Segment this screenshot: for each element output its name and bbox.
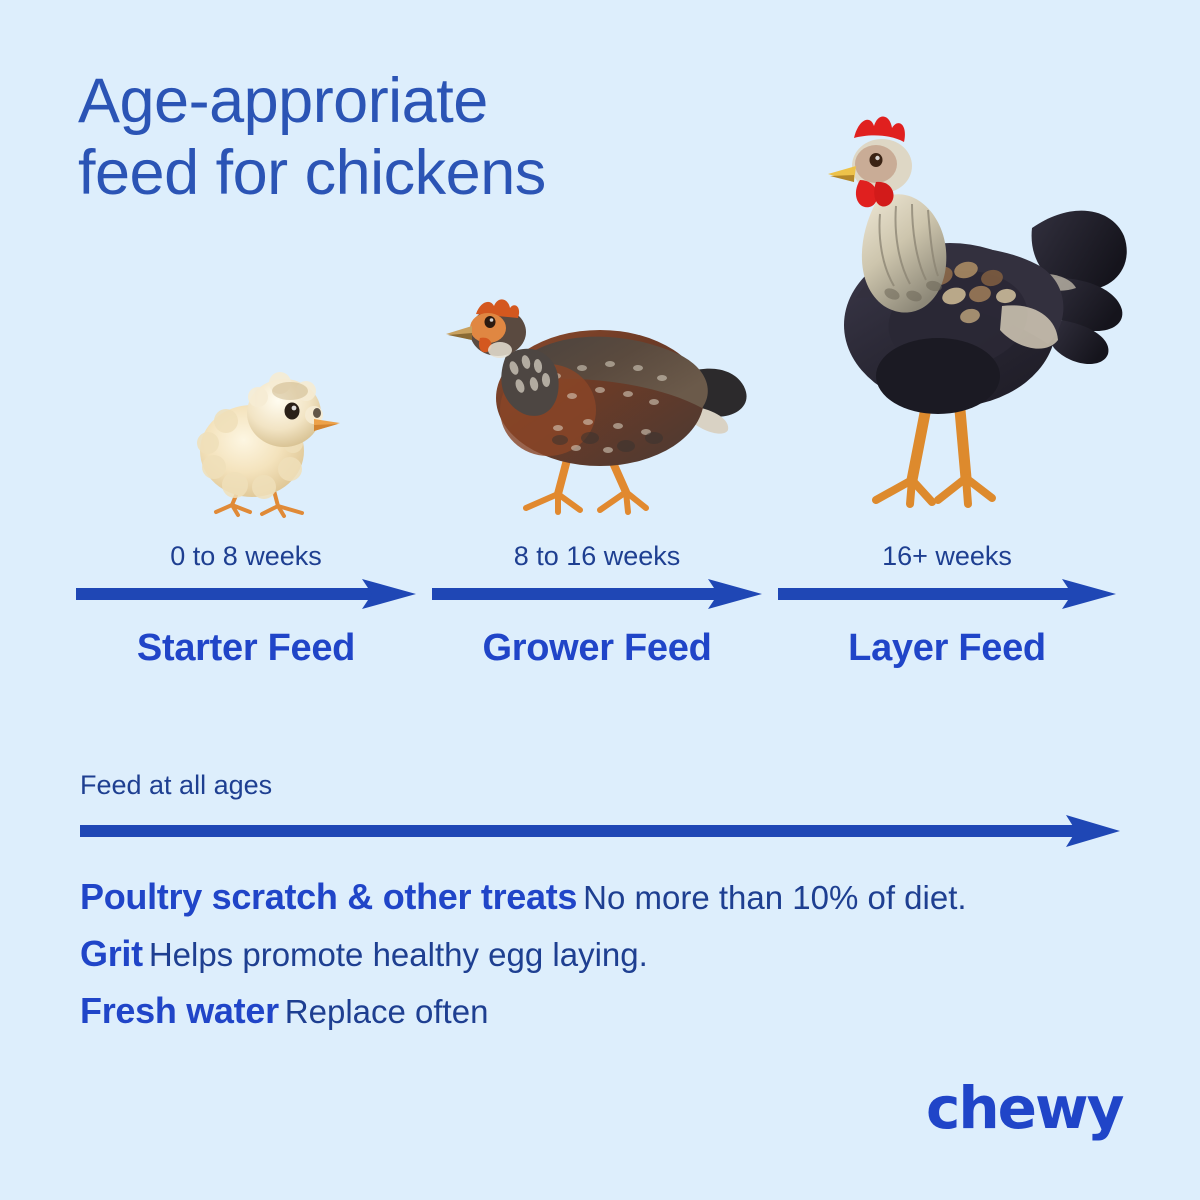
- stage-age-label: 8 to 16 weeks: [432, 535, 762, 577]
- list-item: GritHelps promote healthy egg laying.: [80, 935, 1140, 974]
- chewy-logo-icon: chewy: [926, 1078, 1126, 1144]
- baby-chick-illustration: [180, 365, 350, 530]
- illustration-band: [0, 70, 1200, 530]
- item-description: Replace often: [285, 993, 489, 1030]
- timeline-stage-grower: 8 to 16 weeks Grower Feed: [432, 535, 762, 685]
- list-item: Fresh waterReplace often: [80, 992, 1140, 1031]
- all-ages-section: Feed at all ages: [80, 770, 1120, 849]
- stage-age-label: 0 to 8 weeks: [76, 535, 416, 577]
- timeline-stage-starter: 0 to 8 weeks Starter Feed: [76, 535, 416, 685]
- adult-hen-illustration: [820, 80, 1150, 530]
- pullet-illustration: [440, 280, 770, 530]
- item-term: Grit: [80, 933, 143, 974]
- adult-hen-icon: [820, 80, 1150, 530]
- item-term: Poultry scratch & other treats: [80, 876, 577, 917]
- item-term: Fresh water: [80, 990, 279, 1031]
- stage-feed-label: Starter Feed: [76, 627, 416, 670]
- stage-age-label: 16+ weeks: [778, 535, 1116, 577]
- feed-timeline: 0 to 8 weeks Starter Feed 8 to 16 weeks …: [76, 535, 1116, 685]
- stage-feed-label: Grower Feed: [432, 627, 762, 670]
- item-description: No more than 10% of diet.: [583, 879, 966, 916]
- all-ages-label: Feed at all ages: [80, 770, 1120, 801]
- arrow-right-icon: [778, 577, 1116, 611]
- all-ages-items: Poultry scratch & other treatsNo more th…: [80, 878, 1140, 1049]
- item-description: Helps promote healthy egg laying.: [149, 936, 648, 973]
- baby-chick-icon: [180, 365, 350, 530]
- list-item: Poultry scratch & other treatsNo more th…: [80, 878, 1140, 917]
- arrow-right-icon: [80, 813, 1120, 849]
- arrow-right-icon: [432, 577, 762, 611]
- stage-feed-label: Layer Feed: [778, 627, 1116, 670]
- timeline-stage-layer: 16+ weeks Layer Feed: [778, 535, 1116, 685]
- chewy-logo: chewy: [926, 1078, 1126, 1144]
- infographic-canvas: Age-approriate feed for chickens: [0, 0, 1200, 1200]
- pullet-chicken-icon: [440, 280, 770, 530]
- arrow-right-icon: [76, 577, 416, 611]
- chewy-logo-text: chewy: [926, 1078, 1124, 1142]
